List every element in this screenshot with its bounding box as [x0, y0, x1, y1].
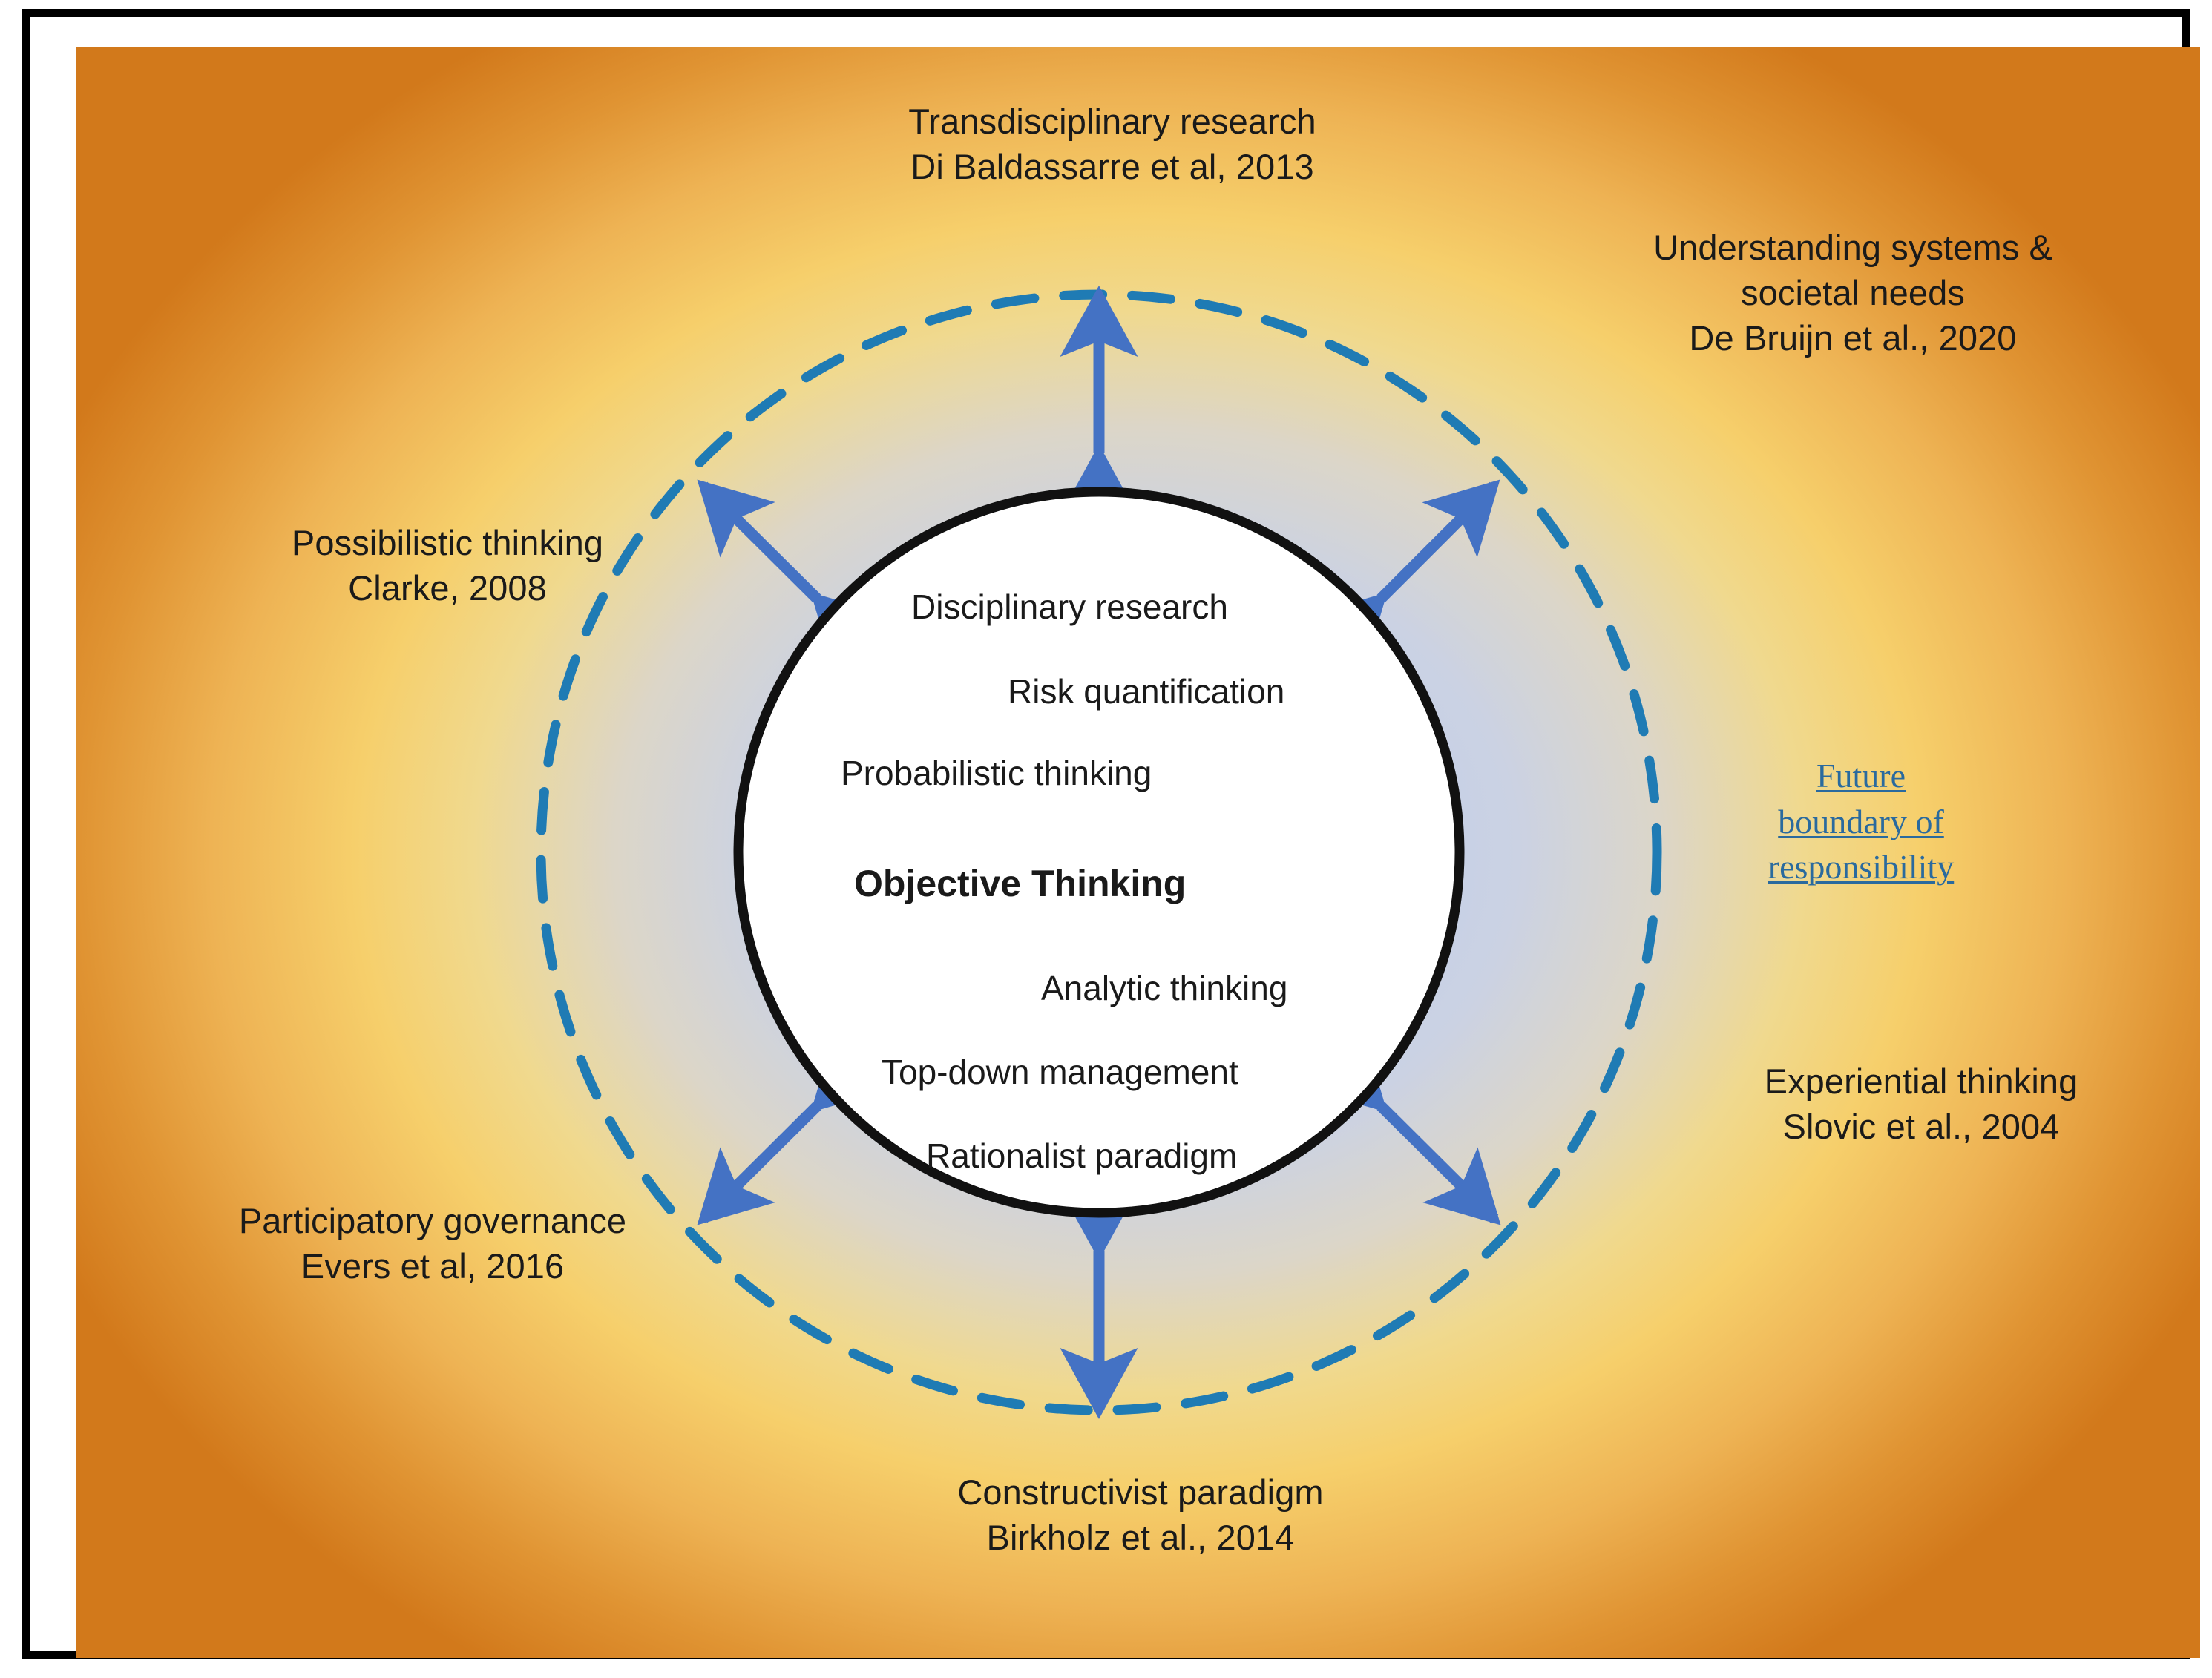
arrow-upper-left	[703, 486, 817, 599]
figure-canvas: Disciplinary research Risk quantificatio…	[0, 0, 2212, 1678]
core-attribute-disciplinary-research: Disciplinary research	[911, 587, 1228, 628]
gradient-background: Disciplinary research Risk quantificatio…	[76, 47, 2200, 1658]
core-center-label: Objective Thinking	[854, 861, 1186, 906]
outer-label-participatory-governance: Participatory governance Evers et al, 20…	[158, 1198, 707, 1289]
arrow-lower-left	[703, 1106, 817, 1219]
future-boundary-annotation: Future boundary of responsibility	[1739, 753, 1983, 890]
core-attribute-top-down-management: Top-down management	[882, 1052, 1238, 1093]
outer-label-understanding-systems: Understanding systems & societal needs D…	[1578, 225, 2127, 361]
arrow-upper-right	[1381, 486, 1494, 599]
outer-label-transdisciplinary-research: Transdisciplinary research Di Baldassarr…	[830, 99, 1394, 189]
core-attribute-rationalist-paradigm: Rationalist paradigm	[926, 1136, 1237, 1177]
outer-label-possibilistic-thinking: Possibilistic thinking Clarke, 2008	[188, 520, 707, 611]
figure-frame: Disciplinary research Risk quantificatio…	[22, 9, 2190, 1659]
arrow-lower-right	[1381, 1106, 1494, 1219]
outer-label-experiential-thinking: Experiential thinking Slovic et al., 200…	[1669, 1059, 2173, 1149]
core-attribute-risk-quantification: Risk quantification	[1008, 671, 1284, 712]
core-attribute-probabilistic-thinking: Probabilistic thinking	[841, 753, 1152, 794]
core-attribute-analytic-thinking: Analytic thinking	[1041, 968, 1287, 1009]
outer-label-constructivist-paradigm: Constructivist paradigm Birkholz et al.,…	[851, 1470, 1430, 1560]
